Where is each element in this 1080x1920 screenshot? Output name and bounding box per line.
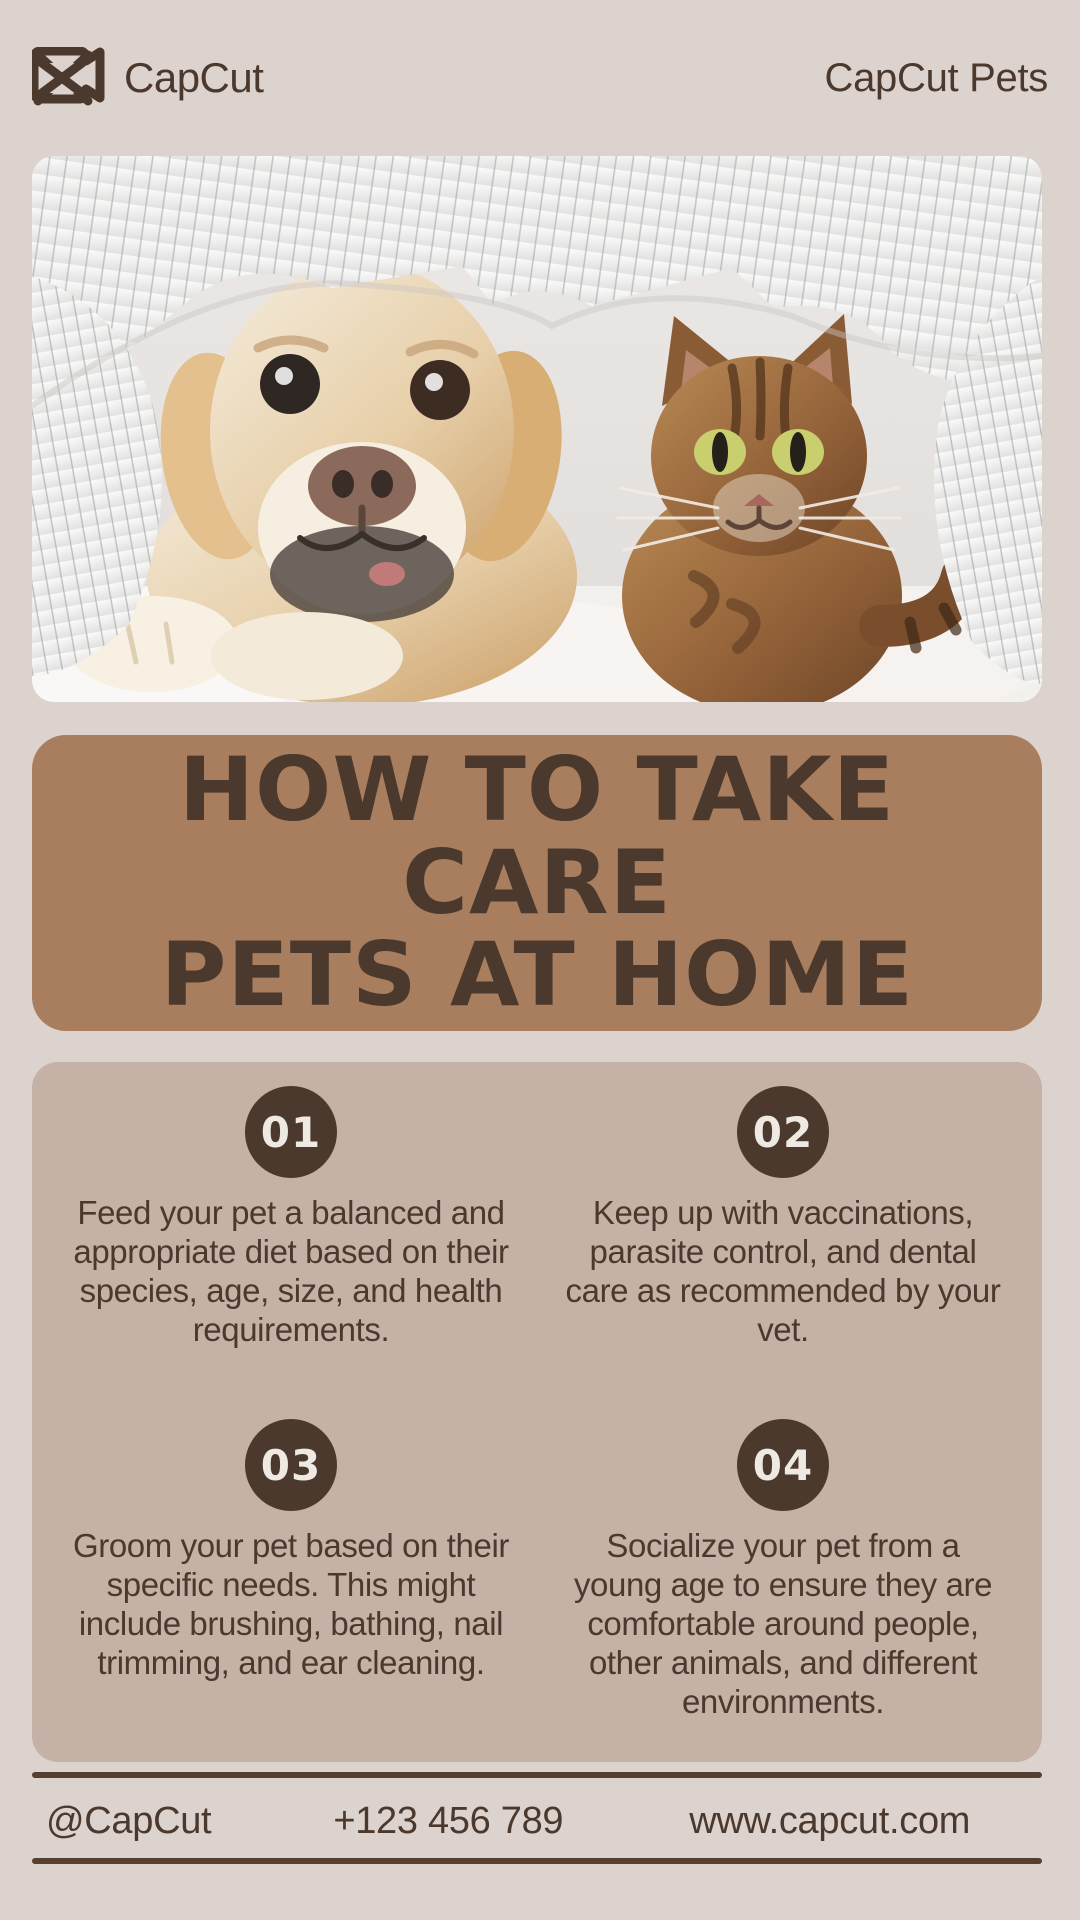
tip-text: Groom your pet based on their specific n…	[70, 1527, 512, 1683]
footer-website[interactable]: www.capcut.com	[689, 1802, 970, 1840]
tips-card: 01 Feed your pet a balanced and appropri…	[32, 1062, 1042, 1762]
tip-item-02: 02 Keep up with vaccinations, parasite c…	[542, 1086, 1024, 1419]
footer-handle[interactable]: @CapCut	[46, 1802, 211, 1840]
tip-number-badge: 01	[245, 1086, 337, 1178]
tip-number-badge: 04	[737, 1419, 829, 1511]
page-title-line-2: PETS AT HOME	[160, 929, 914, 1021]
tip-item-04: 04 Socialize your pet from a young age t…	[542, 1419, 1024, 1752]
tip-item-03: 03 Groom your pet based on their specifi…	[50, 1419, 532, 1752]
page-title-line-1: HOW TO TAKE CARE	[63, 744, 1012, 929]
tip-text: Socialize your pet from a young age to e…	[562, 1527, 1004, 1722]
tip-text: Keep up with vaccinations, parasite cont…	[562, 1194, 1004, 1350]
footer-divider-bottom	[32, 1858, 1042, 1864]
footer-phone[interactable]: +123 456 789	[333, 1802, 563, 1840]
infographic-poster: CapCut CapCut Pets	[0, 0, 1080, 1920]
tip-item-01: 01 Feed your pet a balanced and appropri…	[50, 1086, 532, 1419]
hero-photo	[32, 156, 1042, 702]
footer: @CapCut +123 456 789 www.capcut.com	[32, 1790, 1042, 1852]
header: CapCut CapCut Pets	[32, 40, 1048, 116]
tip-number-badge: 03	[245, 1419, 337, 1511]
footer-divider-top	[32, 1772, 1042, 1778]
brand[interactable]: CapCut	[32, 47, 263, 109]
brand-name: CapCut	[124, 57, 263, 99]
tip-number-badge: 02	[737, 1086, 829, 1178]
header-right-label: CapCut Pets	[825, 58, 1048, 98]
capcut-logo-icon	[32, 47, 106, 109]
title-banner: HOW TO TAKE CARE PETS AT HOME	[32, 735, 1042, 1031]
tip-text: Feed your pet a balanced and appropriate…	[70, 1194, 512, 1350]
